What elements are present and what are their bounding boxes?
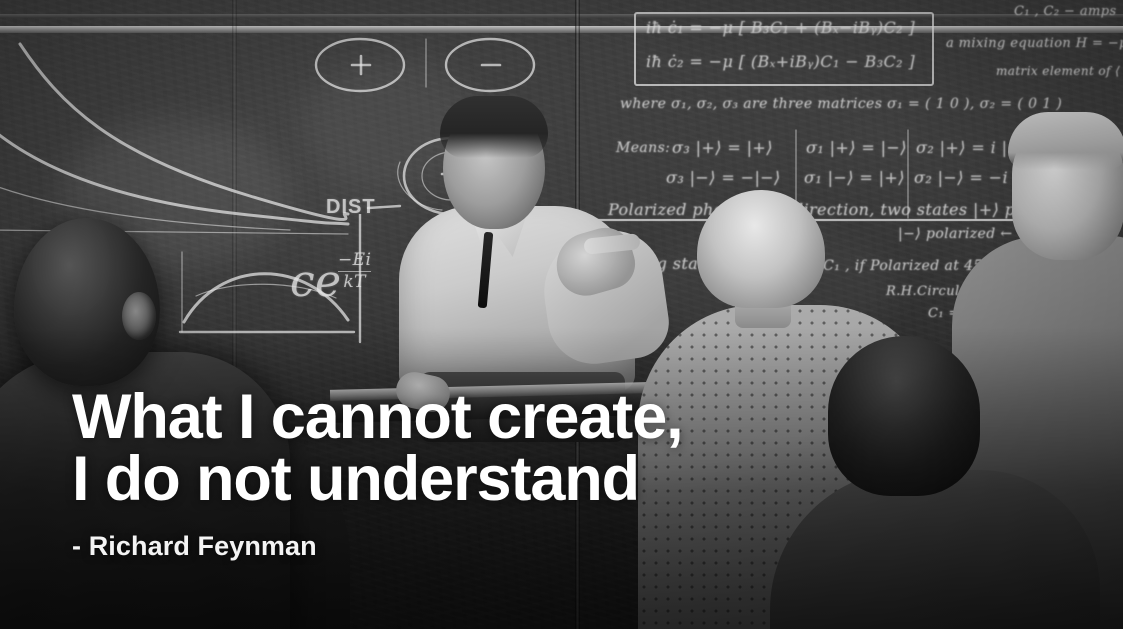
quote-overlay: What I cannot create, I do not understan… [72, 386, 683, 562]
quote-card: DIST ce −Ei kT iħ ċ₁ = −μ [ B₃C₁ + (Bₓ−… [0, 0, 1123, 629]
quote-line-2: I do not understand [72, 448, 683, 510]
quote-attribution: - Richard Feynman [72, 531, 683, 562]
quote-line-1: What I cannot create, [72, 386, 683, 448]
